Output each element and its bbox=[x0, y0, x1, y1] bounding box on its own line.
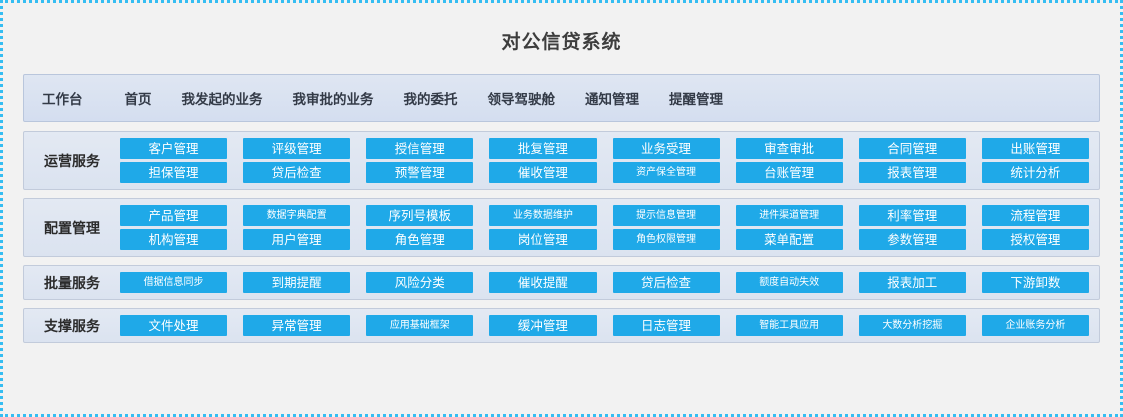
module-button[interactable]: 报表管理 bbox=[859, 162, 966, 183]
app-window: 对公信贷系统 工作台首页我发起的业务我审批的业务我的委托领导驾驶舱通知管理提醒管… bbox=[0, 0, 1123, 417]
module-button[interactable]: 数据字典配置 bbox=[243, 205, 350, 226]
module-button[interactable]: 下游卸数 bbox=[982, 272, 1089, 293]
module-button[interactable]: 授权管理 bbox=[982, 229, 1089, 250]
module-button[interactable]: 机构管理 bbox=[120, 229, 227, 250]
module-button[interactable]: 缓冲管理 bbox=[489, 315, 596, 336]
group-button-grid: 客户管理评级管理授信管理批复管理业务受理审查审批合同管理出账管理担保管理贷后检查… bbox=[120, 138, 1089, 183]
module-button[interactable]: 贷后检查 bbox=[243, 162, 350, 183]
main-navigation-bar: 工作台首页我发起的业务我审批的业务我的委托领导驾驶舱通知管理提醒管理 bbox=[23, 74, 1100, 122]
module-button[interactable]: 应用基础框架 bbox=[366, 315, 473, 336]
nav-item-0[interactable]: 工作台 bbox=[42, 88, 83, 108]
module-button[interactable]: 菜单配置 bbox=[736, 229, 843, 250]
module-button[interactable]: 日志管理 bbox=[613, 315, 720, 336]
module-button[interactable]: 催收提醒 bbox=[489, 272, 596, 293]
module-button[interactable]: 评级管理 bbox=[243, 138, 350, 159]
module-button[interactable]: 角色管理 bbox=[366, 229, 473, 250]
module-button[interactable]: 催收管理 bbox=[489, 162, 596, 183]
module-button[interactable]: 用户管理 bbox=[243, 229, 350, 250]
module-button[interactable]: 到期提醒 bbox=[243, 272, 350, 293]
module-button[interactable]: 额度自动失效 bbox=[736, 272, 843, 293]
module-button[interactable]: 预警管理 bbox=[366, 162, 473, 183]
module-button[interactable]: 参数管理 bbox=[859, 229, 966, 250]
module-button[interactable]: 提示信息管理 bbox=[613, 205, 720, 226]
module-button[interactable]: 担保管理 bbox=[120, 162, 227, 183]
module-button[interactable]: 贷后检查 bbox=[613, 272, 720, 293]
module-button[interactable]: 风险分类 bbox=[366, 272, 473, 293]
module-button[interactable]: 进件渠道管理 bbox=[736, 205, 843, 226]
nav-item-5[interactable]: 领导驾驶舱 bbox=[488, 88, 556, 108]
module-button[interactable]: 岗位管理 bbox=[489, 229, 596, 250]
module-group: 批量服务借据信息同步到期提醒风险分类催收提醒贷后检查额度自动失效报表加工下游卸数 bbox=[23, 265, 1100, 300]
nav-item-6[interactable]: 通知管理 bbox=[585, 88, 639, 108]
module-button[interactable]: 台账管理 bbox=[736, 162, 843, 183]
module-button[interactable]: 业务受理 bbox=[613, 138, 720, 159]
module-button[interactable]: 角色权限管理 bbox=[613, 229, 720, 250]
module-button[interactable]: 合同管理 bbox=[859, 138, 966, 159]
group-label: 批量服务 bbox=[24, 273, 120, 293]
module-button[interactable]: 利率管理 bbox=[859, 205, 966, 226]
module-button[interactable]: 序列号模板 bbox=[366, 205, 473, 226]
module-button[interactable]: 产品管理 bbox=[120, 205, 227, 226]
module-group: 运营服务客户管理评级管理授信管理批复管理业务受理审查审批合同管理出账管理担保管理… bbox=[23, 131, 1100, 190]
nav-item-1[interactable]: 首页 bbox=[125, 88, 152, 108]
module-button[interactable]: 文件处理 bbox=[120, 315, 227, 336]
module-button[interactable]: 出账管理 bbox=[982, 138, 1089, 159]
module-button[interactable]: 批复管理 bbox=[489, 138, 596, 159]
module-button[interactable]: 异常管理 bbox=[243, 315, 350, 336]
group-button-grid: 借据信息同步到期提醒风险分类催收提醒贷后检查额度自动失效报表加工下游卸数 bbox=[120, 272, 1089, 293]
module-button[interactable]: 审查审批 bbox=[736, 138, 843, 159]
group-button-grid: 文件处理异常管理应用基础框架缓冲管理日志管理智能工具应用大数分析挖掘企业账务分析 bbox=[120, 315, 1089, 336]
module-button[interactable]: 授信管理 bbox=[366, 138, 473, 159]
nav-item-7[interactable]: 提醒管理 bbox=[669, 88, 723, 108]
module-button[interactable]: 流程管理 bbox=[982, 205, 1089, 226]
group-label: 配置管理 bbox=[24, 218, 120, 238]
module-groups-container: 运营服务客户管理评级管理授信管理批复管理业务受理审查审批合同管理出账管理担保管理… bbox=[23, 131, 1100, 343]
module-button[interactable]: 企业账务分析 bbox=[982, 315, 1089, 336]
module-button[interactable]: 报表加工 bbox=[859, 272, 966, 293]
module-button[interactable]: 资产保全管理 bbox=[613, 162, 720, 183]
module-group: 配置管理产品管理数据字典配置序列号模板业务数据维护提示信息管理进件渠道管理利率管… bbox=[23, 198, 1100, 257]
nav-item-2[interactable]: 我发起的业务 bbox=[182, 88, 263, 108]
module-button[interactable]: 业务数据维护 bbox=[489, 205, 596, 226]
group-label: 支撑服务 bbox=[24, 316, 120, 336]
nav-item-3[interactable]: 我审批的业务 bbox=[293, 88, 374, 108]
module-group: 支撑服务文件处理异常管理应用基础框架缓冲管理日志管理智能工具应用大数分析挖掘企业… bbox=[23, 308, 1100, 343]
module-button[interactable]: 借据信息同步 bbox=[120, 272, 227, 293]
group-label: 运营服务 bbox=[24, 151, 120, 171]
module-button[interactable]: 统计分析 bbox=[982, 162, 1089, 183]
page-title: 对公信贷系统 bbox=[3, 3, 1120, 74]
module-button[interactable]: 大数分析挖掘 bbox=[859, 315, 966, 336]
nav-item-4[interactable]: 我的委托 bbox=[404, 88, 458, 108]
module-button[interactable]: 客户管理 bbox=[120, 138, 227, 159]
group-button-grid: 产品管理数据字典配置序列号模板业务数据维护提示信息管理进件渠道管理利率管理流程管… bbox=[120, 205, 1089, 250]
module-button[interactable]: 智能工具应用 bbox=[736, 315, 843, 336]
